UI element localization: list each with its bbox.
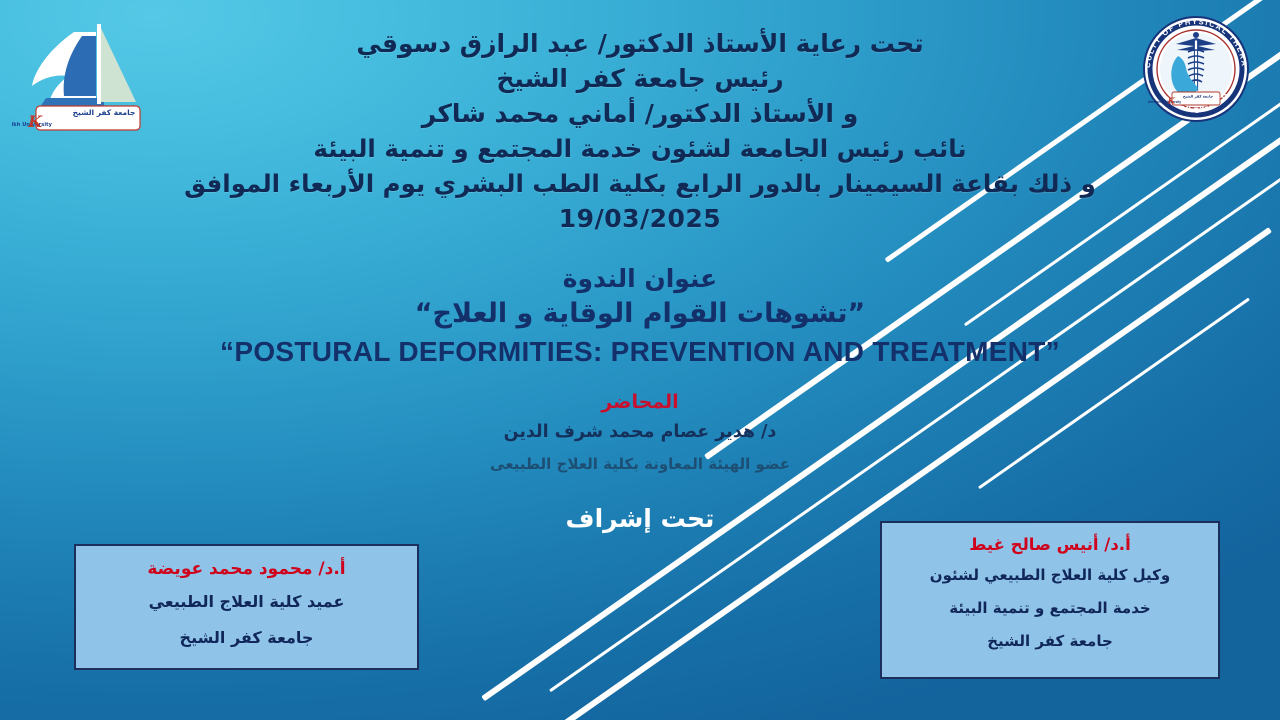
- seminar-title-label: عنوان الندوة: [0, 262, 1280, 296]
- seminar-title-block: عنوان الندوة ”تشوهات القوام الوقاية و ال…: [0, 262, 1280, 372]
- headline-line-venue: و ذلك بقاعة السيمينار بالدور الرابع بكلي…: [24, 166, 1256, 201]
- supervisor-right-role-1: وكيل كلية العلاج الطبيعي لشئون: [892, 559, 1208, 592]
- headline-line-date: 19/03/2025: [24, 201, 1256, 236]
- supervisor-box-left: أ.د/ محمود محمد عويضة عميد كلية العلاج ا…: [74, 544, 419, 670]
- headline-line-patronage: تحت رعاية الأستاذ الدكتور/ عبد الرازق دس…: [24, 26, 1256, 61]
- lecturer-heading: المحاضر: [0, 389, 1280, 415]
- headline-block: تحت رعاية الأستاذ الدكتور/ عبد الرازق دس…: [0, 26, 1280, 236]
- seminar-title-english: “POSTURAL DEFORMITIES: PREVENTION AND TR…: [0, 332, 1280, 372]
- seminar-title-arabic: ”تشوهات القوام الوقاية و العلاج“: [0, 296, 1280, 332]
- seminar-poster: جامعة كفر الشيخ afrelsheikh University K…: [0, 0, 1280, 720]
- headline-line-president: رئيس جامعة كفر الشيخ: [24, 61, 1256, 96]
- supervisor-left-affiliation: جامعة كفر الشيخ: [86, 620, 407, 656]
- supervisor-left-role: عميد كلية العلاج الطبيعي: [86, 584, 407, 620]
- lecturer-name: د/ هدير عصام محمد شرف الدين: [0, 415, 1280, 449]
- supervisor-right-affiliation: جامعة كفر الشيخ: [892, 625, 1208, 658]
- supervisor-left-name: أ.د/ محمود محمد عويضة: [86, 554, 407, 584]
- supervisor-right-role-2: خدمة المجتمع و تنمية البيئة: [892, 592, 1208, 625]
- supervisor-right-name: أ.د/ أنيس صالح غيط: [892, 531, 1208, 559]
- supervisor-box-right: أ.د/ أنيس صالح غيط وكيل كلية العلاج الطب…: [880, 521, 1220, 679]
- headline-line-vice-role: نائب رئيس الجامعة لشئون خدمة المجتمع و ت…: [24, 131, 1256, 166]
- lecturer-block: المحاضر د/ هدير عصام محمد شرف الدين عضو …: [0, 389, 1280, 479]
- lecturer-role: عضو الهيئة المعاونة بكلية العلاج الطبيعى: [0, 449, 1280, 479]
- headline-line-vice-intro: و الأستاذ الدكتور/ أماني محمد شاكر: [24, 96, 1256, 131]
